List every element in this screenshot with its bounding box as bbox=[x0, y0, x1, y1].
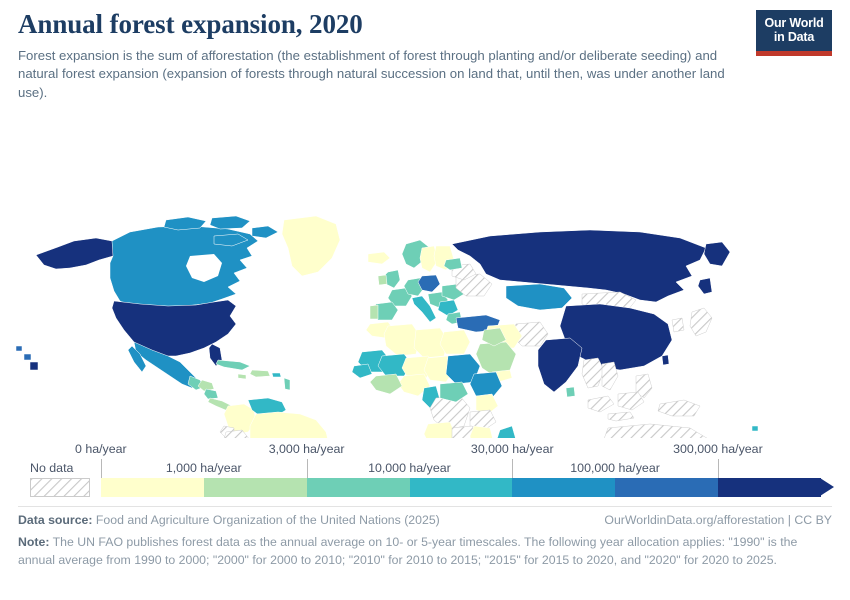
country-russia bbox=[452, 230, 706, 302]
legend-tick-label-0: 0 ha/year bbox=[75, 442, 127, 456]
country-lesser-antilles bbox=[284, 378, 290, 390]
legend-tick-label-2: 3,000 ha/year bbox=[269, 442, 345, 456]
legend-tick-label-1: 1,000 ha/year bbox=[166, 461, 242, 475]
country-hispaniola bbox=[250, 370, 270, 377]
legend-tick-mark-0 bbox=[101, 459, 102, 478]
country-indonesia-sumatra bbox=[588, 396, 614, 412]
country-portugal bbox=[370, 305, 378, 319]
country-new-guinea bbox=[658, 400, 700, 416]
country-russia-sakhalin bbox=[698, 278, 712, 294]
country-india bbox=[538, 338, 582, 392]
data-source: Data source: Food and Agriculture Organi… bbox=[18, 512, 440, 530]
legend-segment-2[interactable] bbox=[307, 478, 410, 497]
country-iceland bbox=[368, 252, 390, 264]
world-map-svg bbox=[0, 108, 850, 438]
data-source-text: Food and Agriculture Organization of the… bbox=[96, 513, 440, 527]
country-cuba bbox=[216, 360, 250, 370]
country-jamaica bbox=[238, 374, 246, 379]
legend-segment-4[interactable] bbox=[512, 478, 615, 497]
legend-no-data-swatch[interactable] bbox=[30, 478, 90, 497]
chart-footer: Data source: Food and Agriculture Organi… bbox=[18, 512, 832, 570]
legend-tick-label-5: 100,000 ha/year bbox=[570, 461, 660, 475]
country-puerto-rico bbox=[272, 373, 281, 377]
chart-subtitle: Forest expansion is the sum of afforesta… bbox=[18, 47, 744, 103]
country-greenland bbox=[282, 216, 340, 276]
country-korea bbox=[672, 318, 684, 332]
country-indonesia-java bbox=[608, 412, 634, 421]
island-fiji bbox=[752, 426, 758, 431]
country-senegal-guinea bbox=[352, 364, 372, 378]
island-pacific-3 bbox=[30, 362, 38, 370]
country-algeria bbox=[384, 324, 420, 356]
country-brazil bbox=[250, 412, 330, 438]
page-title: Annual forest expansion, 2020 bbox=[18, 10, 748, 40]
country-kazakhstan bbox=[506, 284, 572, 310]
legend-segment-6[interactable] bbox=[718, 478, 821, 497]
note-text: The UN FAO publishes forest data as the … bbox=[18, 535, 797, 567]
owid-logo[interactable]: Our World in Data bbox=[756, 10, 832, 56]
legend-no-data-label: No data bbox=[30, 461, 73, 475]
footer-note: Note: The UN FAO publishes forest data a… bbox=[18, 534, 832, 570]
country-mozambique bbox=[470, 426, 494, 438]
legend-tick-label-3: 10,000 ha/year bbox=[368, 461, 451, 475]
country-car bbox=[440, 382, 468, 402]
no-data-hatch-pattern bbox=[31, 479, 89, 496]
owid-logo-line2: in Data bbox=[774, 31, 814, 45]
legend-segment-5[interactable] bbox=[615, 478, 718, 497]
choropleth-map[interactable] bbox=[0, 108, 850, 438]
note-prefix: Note: bbox=[18, 535, 49, 549]
legend-arrow-icon bbox=[820, 478, 834, 496]
island-pacific-1 bbox=[16, 346, 22, 351]
country-canada-arctic-2 bbox=[210, 216, 250, 229]
legend-tick-mark-4 bbox=[512, 459, 513, 478]
country-alaska bbox=[36, 238, 120, 269]
legend-tick-label-4: 30,000 ha/year bbox=[471, 442, 554, 456]
owid-logo-line1: Our World bbox=[764, 17, 823, 31]
source-row: Data source: Food and Agriculture Organi… bbox=[18, 512, 832, 529]
country-russia-kamchatka bbox=[704, 242, 730, 266]
legend-segment-1[interactable] bbox=[204, 478, 307, 497]
country-egypt bbox=[440, 330, 470, 354]
island-taiwan bbox=[662, 355, 669, 365]
legend-color-bar[interactable] bbox=[101, 478, 821, 497]
legend-segment-3[interactable] bbox=[410, 478, 513, 497]
legend-tick-label-6: 300,000 ha/year bbox=[673, 442, 763, 456]
data-source-prefix: Data source: bbox=[18, 513, 93, 527]
country-ireland bbox=[378, 275, 387, 285]
footer-divider bbox=[18, 506, 832, 507]
legend-tick-mark-2 bbox=[307, 459, 308, 478]
chart-header: Annual forest expansion, 2020 Forest exp… bbox=[18, 10, 748, 103]
country-nicaragua bbox=[204, 389, 218, 399]
country-madagascar bbox=[496, 426, 516, 438]
country-canada-arctic-1 bbox=[164, 217, 206, 230]
country-australia bbox=[600, 424, 714, 438]
legend-segment-0[interactable] bbox=[101, 478, 204, 497]
map-legend: No data 0 ha/year1,000 ha/year3,000 ha/y… bbox=[0, 442, 850, 504]
country-canada-arctic-4 bbox=[252, 226, 278, 238]
island-sri-lanka bbox=[566, 387, 575, 397]
country-japan bbox=[690, 308, 712, 336]
legend-tick-mark-6 bbox=[718, 459, 719, 478]
island-svalbard bbox=[446, 222, 466, 234]
country-ethiopia bbox=[470, 372, 502, 398]
country-ghana-ivorycoast bbox=[370, 374, 402, 394]
owid-url[interactable]: OurWorldinData.org/afforestation | CC BY bbox=[604, 512, 832, 530]
country-angola bbox=[424, 422, 456, 438]
island-pacific-2 bbox=[24, 354, 31, 360]
